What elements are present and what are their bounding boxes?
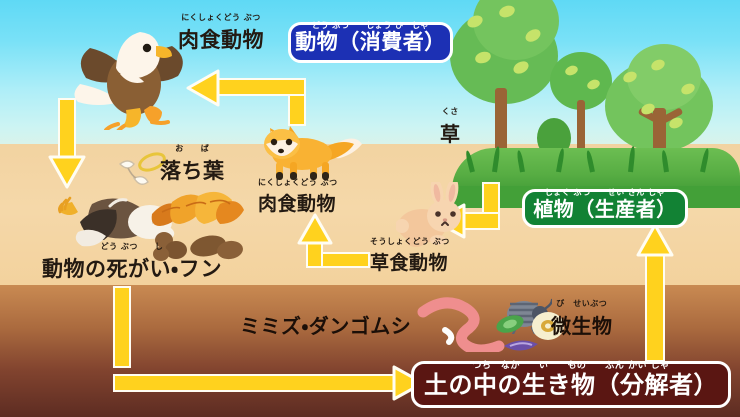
arrow-rabbit-to-fox-head: [296, 212, 334, 246]
label-carnivore-eagle-furigana: にくしょくどう ぶつ: [178, 14, 264, 22]
label-fallen-leaves-base: 落ち葉: [160, 159, 225, 183]
arrow-eagle-to-dead-head: [47, 150, 87, 190]
eagle-illustration: [68, 12, 196, 130]
badge-soil-text: つち なか い もの ぶん かい しゃ 土の中の生き物（分解者）: [424, 373, 718, 397]
label-dead-animals-base: 動物の死がい・フン: [42, 257, 222, 281]
label-worms-pillbugs-base: ミミズ・ダンゴムシ: [240, 314, 411, 338]
tree-trunk: [577, 100, 585, 152]
arrow-soil-to-plant-vertical: [645, 248, 665, 362]
label-worms-pillbugs: ミミズ・ダンゴムシ: [240, 310, 411, 339]
ecosystem-diagram: どう ぶつ しょう ひ しゃ 動物（消費者） しょく ぶつ せい さん しゃ 植…: [0, 0, 740, 417]
fox-illustration: [258, 112, 364, 184]
label-microbes: び せいぶつ 微生物: [551, 310, 613, 339]
badge-soil-decomposer[interactable]: つち なか い もの ぶん かい しゃ 土の中の生き物（分解者）: [411, 361, 731, 408]
label-herbivore: そうしょくどう ぶつ 草食動物: [370, 248, 448, 275]
badge-animal-base: 動物（消費者）: [295, 30, 446, 54]
badge-soil-furigana: つち なか い もの ぶん かい しゃ: [424, 362, 718, 371]
label-herbivore-base: 草食動物: [370, 252, 448, 274]
badge-plant-base: 植物（生産者）: [533, 197, 677, 221]
badge-animal-furigana: どう ぶつ しょう ひ しゃ: [295, 22, 446, 30]
label-grass-furigana: くさ: [440, 108, 461, 116]
badge-plant-producer[interactable]: しょく ぶつ せい さん しゃ 植物（生産者）: [522, 189, 688, 228]
badge-animal-text: どう ぶつ しょう ひ しゃ 動物（消費者）: [295, 32, 446, 53]
label-microbes-base: 微生物: [551, 314, 613, 338]
arrow-dead-to-soil-horizontal: [113, 374, 399, 392]
label-fallen-leaves: お ば 落ち葉: [160, 155, 225, 185]
badge-soil-base: 土の中の生き物（分解者）: [424, 371, 718, 399]
badge-animal-consumer[interactable]: どう ぶつ しょう ひ しゃ 動物（消費者）: [288, 22, 453, 63]
label-microbes-furigana: び せいぶつ: [551, 300, 613, 308]
label-carnivore-fox-furigana: にくしょくどう ぶつ: [258, 179, 336, 187]
label-grass-base: 草: [440, 122, 461, 146]
arrow-fox-to-eagle-horizontal: [215, 78, 306, 96]
label-dead-animals-furigana: どう ぶつ し: [42, 243, 222, 251]
badge-plant-text: しょく ぶつ せい さん しゃ 植物（生産者）: [533, 199, 677, 219]
tree-trunk: [495, 88, 507, 154]
label-dead-animals: どう ぶつ し 動物の死がい・フン: [42, 253, 222, 283]
label-herbivore-furigana: そうしょくどう ぶつ: [370, 238, 448, 246]
arrow-dead-to-soil-vertical: [113, 286, 131, 368]
label-carnivore-eagle: にくしょくどう ぶつ 肉食動物: [178, 24, 264, 54]
label-fallen-leaves-furigana: お ば: [160, 145, 225, 153]
label-carnivore-fox-base: 肉食動物: [258, 193, 336, 215]
badge-plant-furigana: しょく ぶつ せい さん しゃ: [533, 189, 677, 197]
label-carnivore-eagle-base: 肉食動物: [178, 28, 264, 52]
label-grass: くさ 草: [440, 118, 461, 147]
tree-canopy: [627, 44, 701, 110]
label-carnivore-fox: にくしょくどう ぶつ 肉食動物: [258, 189, 336, 216]
